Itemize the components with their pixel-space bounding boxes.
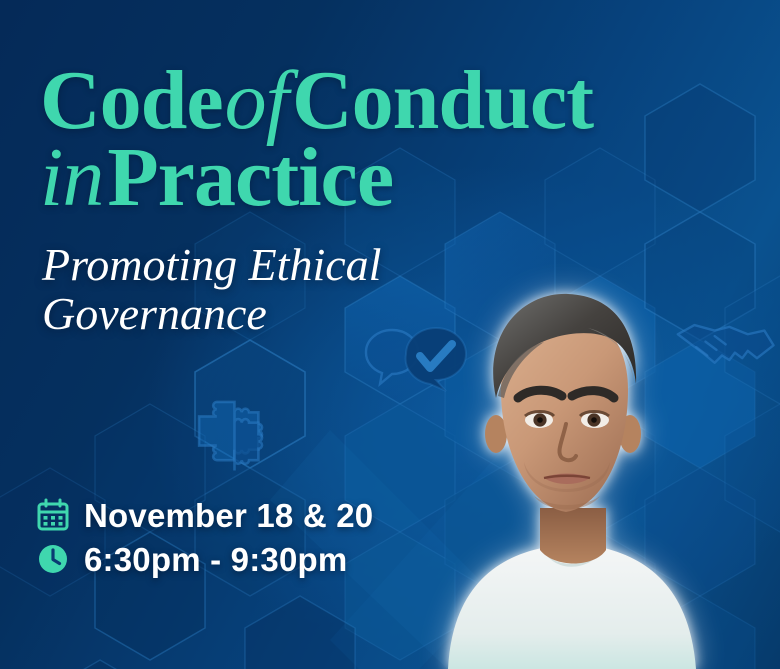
event-poster: EXPERT MASTERCLASS CodeofConduct inPract… (0, 0, 780, 669)
title-word-practice: Practice (107, 131, 393, 224)
title-word-in: in (40, 131, 107, 224)
calendar-icon (36, 498, 70, 532)
event-date-row: November 18 & 20 (36, 498, 373, 532)
event-date-text: November 18 & 20 (84, 499, 373, 532)
poster-subtitle: Promoting Ethical Governance (42, 240, 472, 338)
poster-title: CodeofConduct inPractice (40, 62, 700, 217)
event-time-row: 6:30pm - 9:30pm (36, 542, 373, 576)
clock-icon (36, 542, 70, 576)
event-time-text: 6:30pm - 9:30pm (84, 543, 347, 576)
event-details: November 18 & 20 6:30pm - 9:30pm (36, 498, 373, 586)
speaker-portrait (438, 272, 700, 669)
